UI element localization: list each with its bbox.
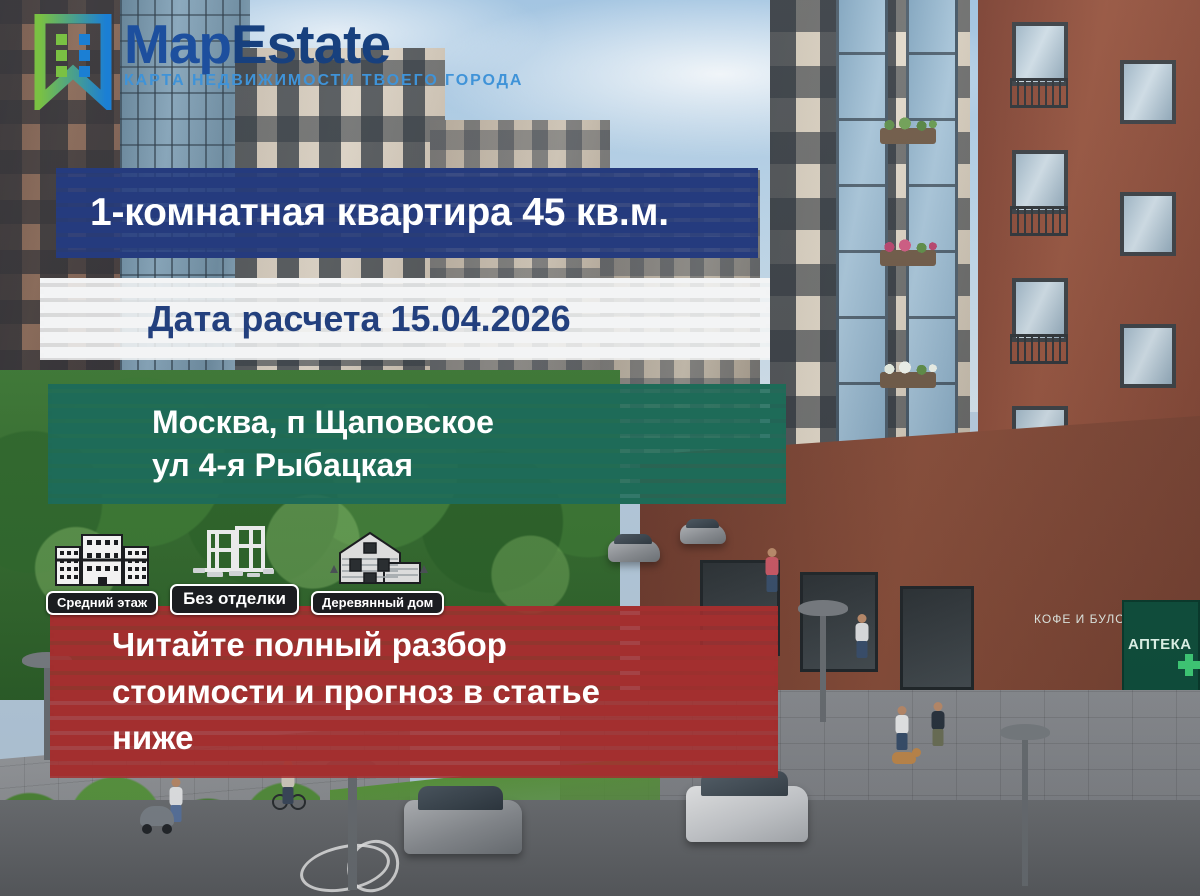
brand-name-estate: Estate [231,13,390,75]
street-lamp [820,612,826,722]
calculation-date-text: Дата расчета 15.04.2026 [40,298,571,340]
balcony-railing [1010,334,1068,364]
green-cross-icon [1178,654,1200,676]
property-title-banner: 1-комнатная квартира 45 кв.м. [56,168,758,258]
brand-text: MapEstate КАРТА НЕДВИЖИМОСТИ ТВОЕГО ГОРО… [124,14,523,90]
balcony-planter [880,250,936,266]
address-banner: Москва, п Щаповское ул 4-я Рыбацкая [48,384,786,504]
address-line-2: ул 4-я Рыбацкая [152,444,494,487]
badge-icon-wrap [187,524,283,580]
feature-badges: Средний этаж [46,524,444,615]
balcony-railing [1010,206,1068,236]
street-lamp [348,770,357,890]
property-title-text: 1-комнатная квартира 45 кв.м. [56,191,669,235]
brand-tagline: КАРТА НЕДВИЖИМОСТИ ТВОЕГО ГОРОДА [124,72,523,90]
cta-banner[interactable]: Читайте полный разбор стоимости и прогно… [50,606,778,778]
badge-label: Без отделки [170,584,299,615]
shop-sign-pharmacy: АПТЕКА [1128,636,1192,653]
badge-middle-floor[interactable]: Средний этаж [46,531,158,615]
stroller [140,806,174,834]
balcony-planter [880,128,936,144]
car-distant [680,524,726,544]
brand-logo[interactable]: MapEstate КАРТА НЕДВИЖИМОСТИ ТВОЕГО ГОРО… [34,14,523,110]
badge-label: Деревянный дом [311,591,444,615]
bookmark-building-logo-icon [34,14,112,110]
badge-label: Средний этаж [46,591,158,615]
balcony-railing [1010,78,1068,108]
brick-window [1120,324,1176,388]
brick-window [1120,192,1176,256]
brand-name-map: Map [124,13,231,75]
address-line-1: Москва, п Щаповское [152,401,494,444]
badge-no-finishing[interactable]: Без отделки [170,524,299,615]
badge-icon-wrap [326,531,430,587]
brick-window [1012,22,1068,86]
apartment-buildings-icon [52,531,152,587]
car-parked [404,800,522,854]
badge-icon-wrap [52,531,152,587]
shop-entrance [900,586,974,690]
cta-line-1: Читайте полный разбор [112,622,600,669]
car-parked [686,786,808,842]
street-lamp [1022,736,1028,886]
brand-name: MapEstate [124,18,523,70]
promo-card: КОФЕ И БУЛОЧКА АПТЕКА [0,0,1200,896]
badge-wooden-house[interactable]: Деревянный дом [311,531,444,615]
dog [892,752,916,764]
wooden-house-icon [326,531,430,587]
brick-window [1120,60,1176,124]
brick-window [1012,278,1068,342]
calculation-date-banner: Дата расчета 15.04.2026 [40,278,770,360]
cta-line-3: ниже [112,715,600,762]
cta-text: Читайте полный разбор стоимости и прогно… [50,622,600,763]
address-text: Москва, п Щаповское ул 4-я Рыбацкая [48,401,494,487]
unfinished-construction-icon [187,524,283,580]
car-distant [608,540,660,562]
cta-line-2: стоимости и прогноз в статье [112,669,600,716]
balcony-planter [880,372,936,388]
brick-window [1012,150,1068,214]
